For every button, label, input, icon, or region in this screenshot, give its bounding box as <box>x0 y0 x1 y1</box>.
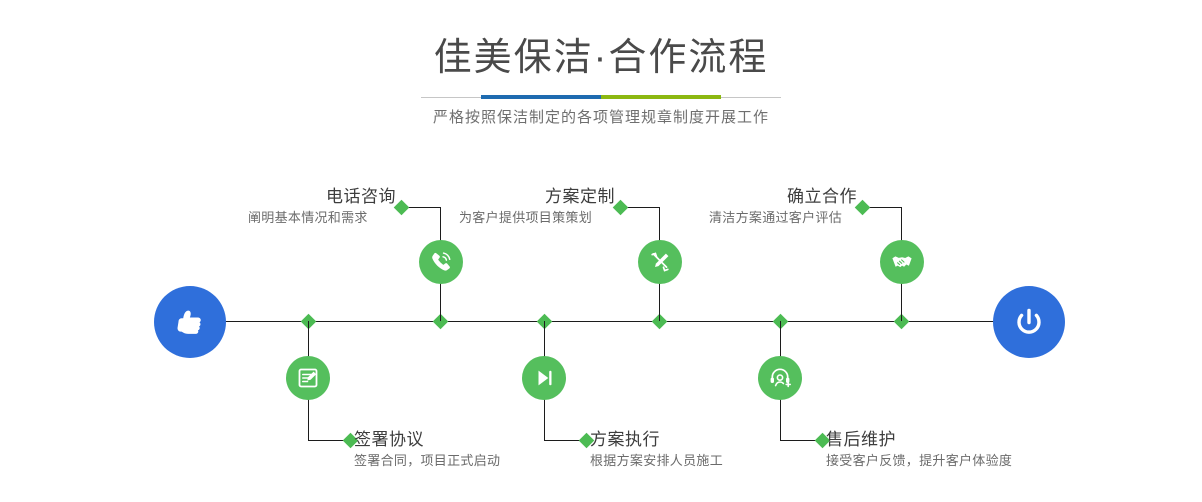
step-node-1[interactable] <box>419 240 463 284</box>
step-desc-3: 为客户提供项目策策划 <box>459 208 615 228</box>
step-label-4: 方案执行 根据方案安排人员施工 <box>590 429 723 471</box>
step-node-4[interactable] <box>522 356 566 400</box>
pointing-hand-icon <box>170 302 210 342</box>
label-marker-1 <box>394 200 410 216</box>
handshake-icon <box>889 249 915 275</box>
step-node-6[interactable] <box>758 356 802 400</box>
step-title-5: 确立合作 <box>709 186 857 208</box>
phone-call-icon <box>428 249 454 275</box>
step-desc-6: 接受客户反馈，提升客户体验度 <box>826 451 1012 471</box>
play-execute-icon <box>531 365 557 391</box>
document-sign-icon <box>295 365 321 391</box>
timeline-end-endpoint <box>993 286 1065 358</box>
step-node-5[interactable] <box>880 240 924 284</box>
step-label-1: 电话咨询 阐明基本情况和需求 <box>248 186 396 228</box>
timeline-start-endpoint <box>154 286 226 358</box>
flow-diagram-canvas: 佳美保洁·合作流程 严格按照保洁制定的各项管理规章制度开展工作 <box>0 0 1202 502</box>
step-title-1: 电话咨询 <box>248 186 396 208</box>
page-title: 佳美保洁·合作流程 <box>0 36 1202 80</box>
divider-segment-green <box>601 95 721 99</box>
power-icon <box>1009 302 1049 342</box>
step-node-2[interactable] <box>286 356 330 400</box>
step-desc-2: 签署合同，项目正式启动 <box>354 451 500 471</box>
step-title-3: 方案定制 <box>459 186 615 208</box>
headset-support-icon <box>767 365 793 391</box>
step-label-5: 确立合作 清洁方案通过客户评估 <box>709 186 857 228</box>
step-desc-5: 清洁方案通过客户评估 <box>709 208 857 228</box>
label-marker-5 <box>855 200 871 216</box>
step-title-6: 售后维护 <box>826 429 1012 451</box>
label-marker-3 <box>613 200 629 216</box>
title-divider <box>421 95 781 99</box>
pencil-design-icon <box>647 249 673 275</box>
step-desc-4: 根据方案安排人员施工 <box>590 451 723 471</box>
step-label-6: 售后维护 接受客户反馈，提升客户体验度 <box>826 429 1012 471</box>
step-title-2: 签署协议 <box>354 429 500 451</box>
page-subtitle: 严格按照保洁制定的各项管理规章制度开展工作 <box>0 107 1202 129</box>
step-label-3: 方案定制 为客户提供项目策策划 <box>459 186 615 228</box>
step-label-2: 签署协议 签署合同，项目正式启动 <box>354 429 500 471</box>
divider-segment-blue <box>481 95 601 99</box>
step-desc-1: 阐明基本情况和需求 <box>248 208 396 228</box>
step-node-3[interactable] <box>638 240 682 284</box>
step-title-4: 方案执行 <box>590 429 723 451</box>
